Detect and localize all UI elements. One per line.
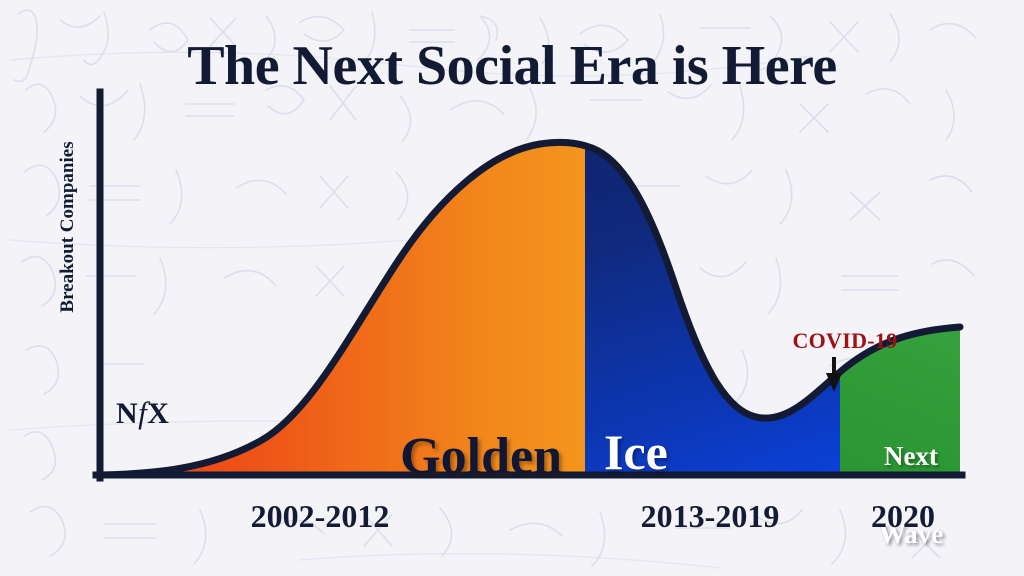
infographic-canvas: The Next Social Era is Here Breakout Com… <box>0 0 1024 576</box>
era-label-ice-age: Ice Age <box>604 332 754 576</box>
era-label-golden-age-line1: Golden <box>330 432 562 482</box>
nfx-logo-f: f <box>138 395 147 430</box>
nfx-logo-n: N <box>116 397 138 430</box>
page-title: The Next Social Era is Here <box>0 34 1024 98</box>
x-axis-tick-2020: 2020 <box>838 498 968 535</box>
era-label-golden-age: Golden Age <box>330 332 562 576</box>
x-axis-tick-2013-2019: 2013-2019 <box>600 498 820 535</box>
nfx-logo-x: X <box>147 397 169 430</box>
era-label-ice-age-line2: Age <box>604 572 754 576</box>
nfx-logo: NfX <box>116 395 169 431</box>
era-label-next-wave: Next Wave <box>856 392 966 576</box>
y-axis-label: Breakout Companies <box>57 107 79 347</box>
era-label-ice-age-line1: Ice <box>604 428 754 476</box>
x-axis-tick-2002-2012: 2002-2012 <box>190 498 450 535</box>
covid-19-annotation-label: COVID-19 <box>770 328 920 354</box>
era-label-next-wave-line1: Next <box>856 444 966 470</box>
